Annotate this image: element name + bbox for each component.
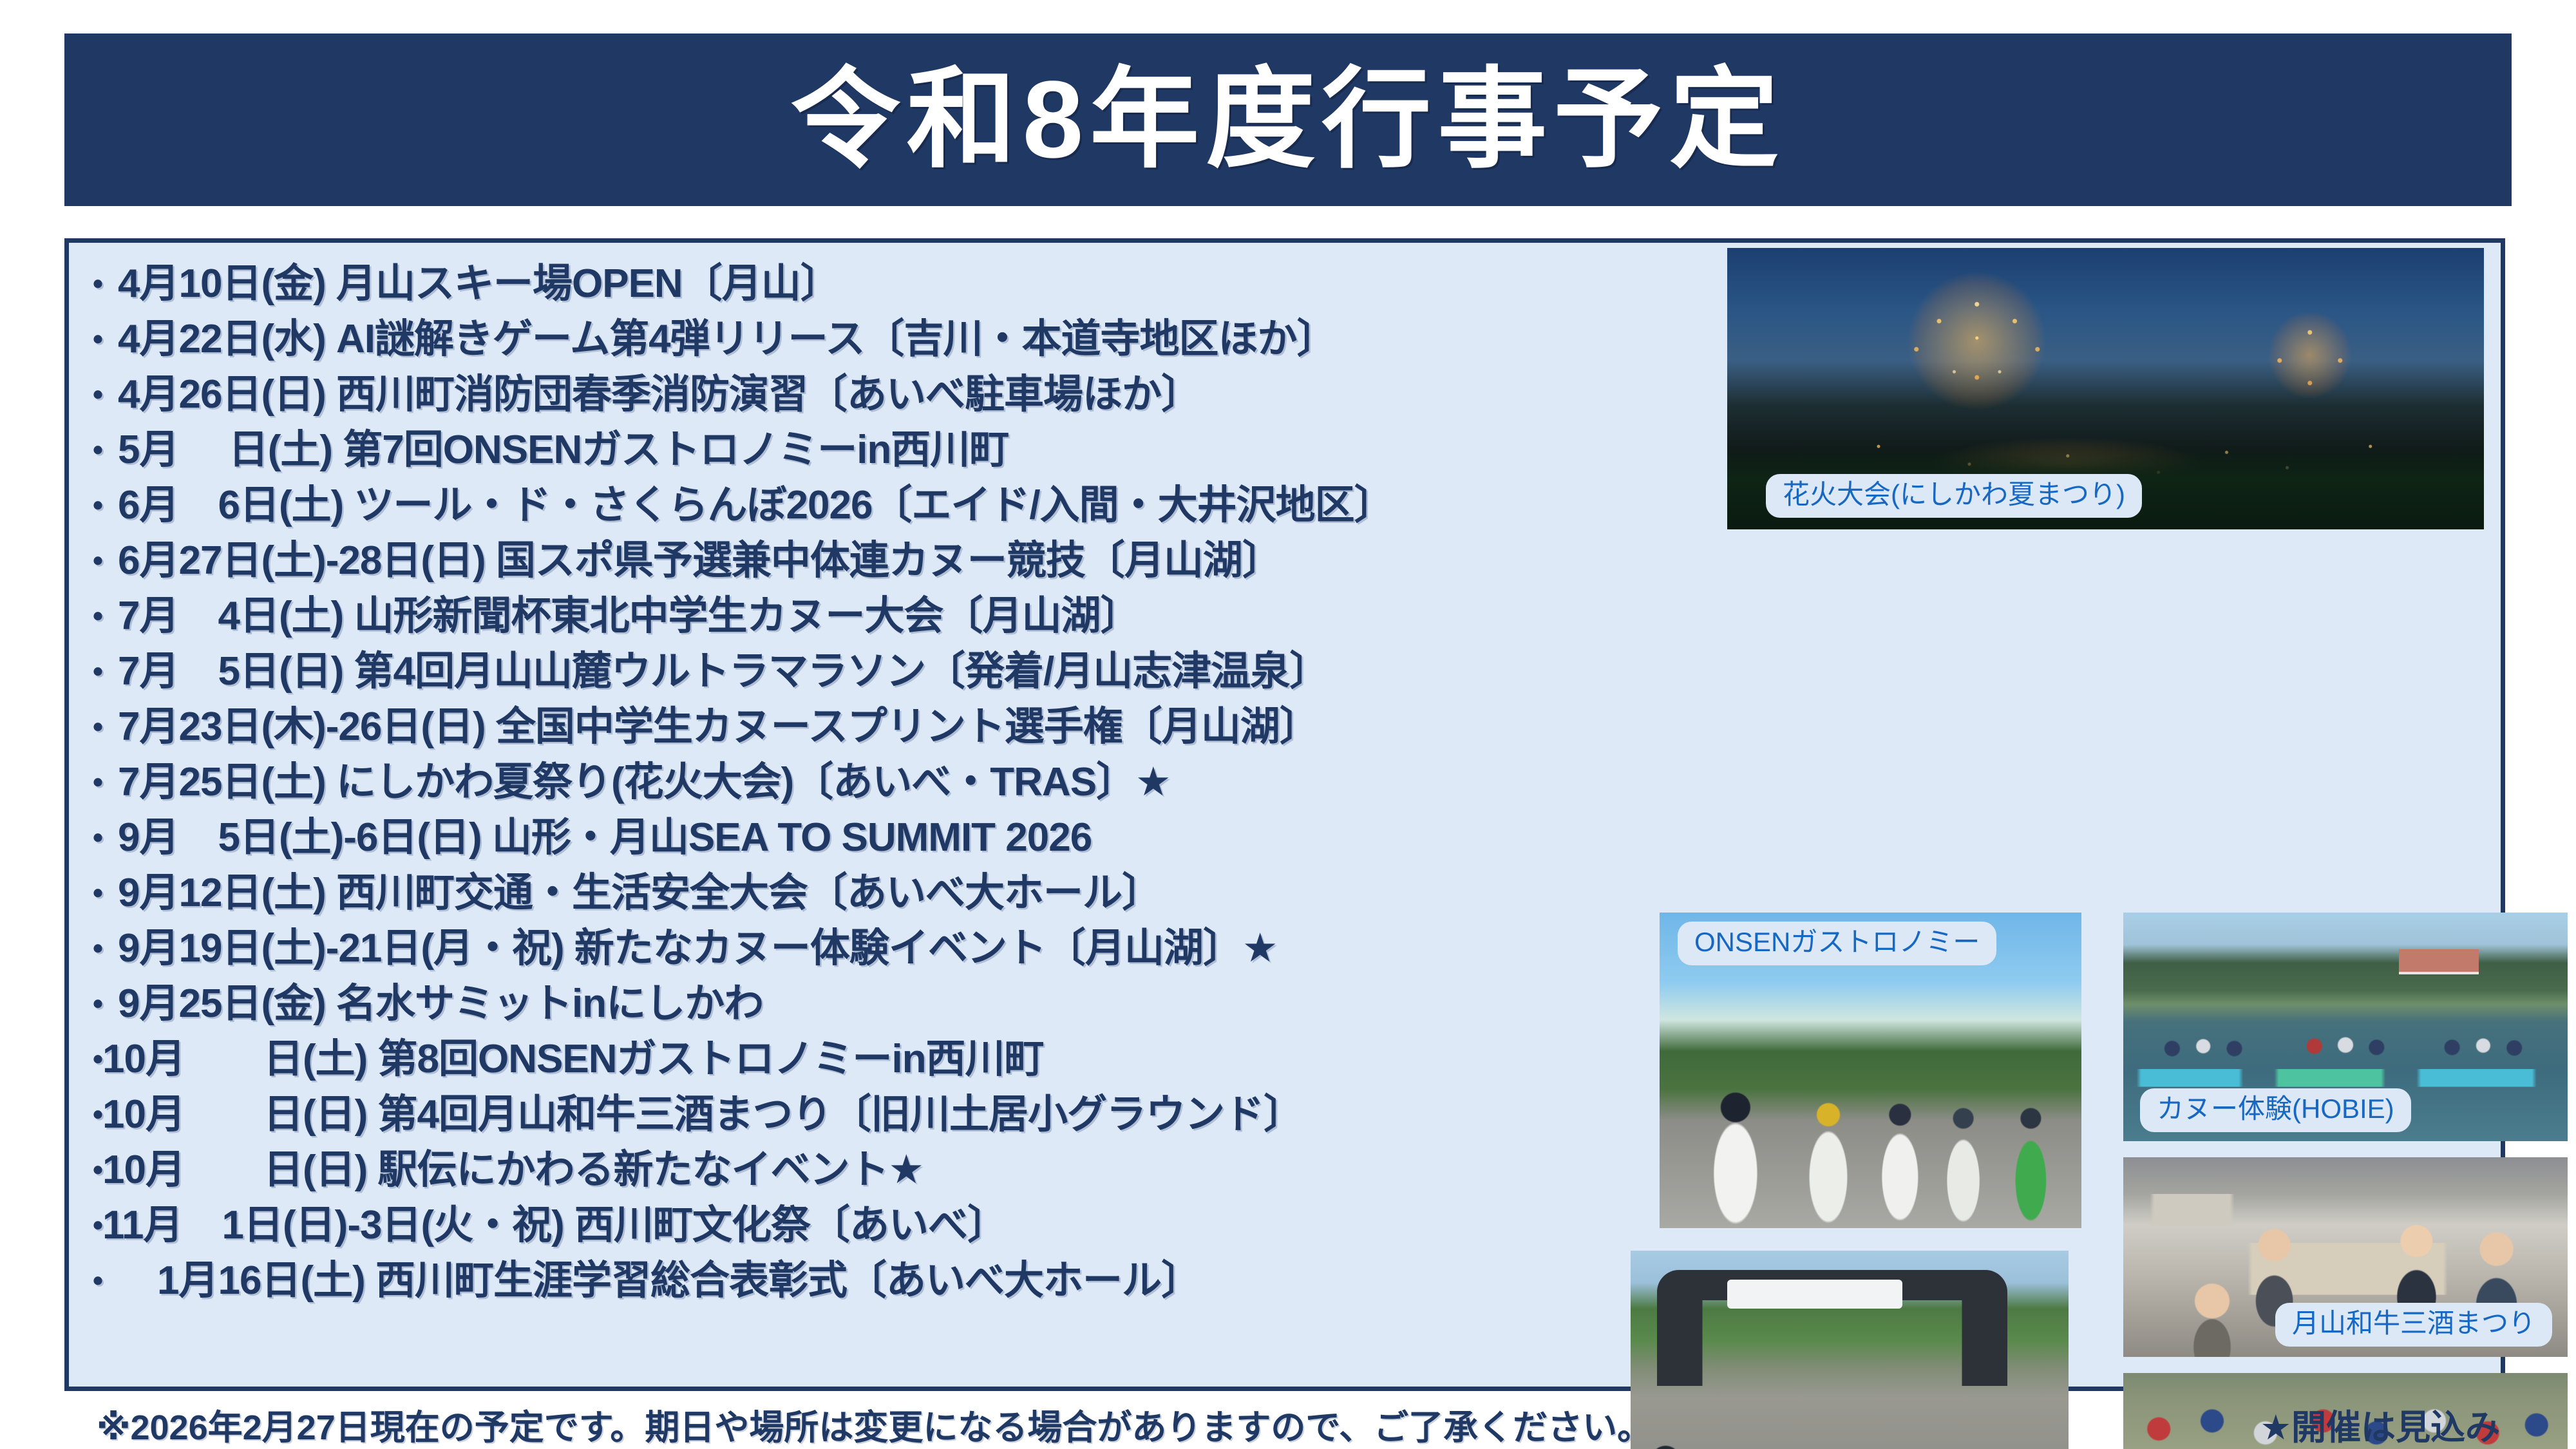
event-date: 4月22日(水) — [118, 306, 326, 364]
event-date: 9月12日(土) — [118, 860, 326, 918]
event-row: ・10月 日(日) 第4回月山和牛三酒まつり〔旧川土居小グラウンド〕 — [80, 1081, 1555, 1137]
event-spacer — [564, 925, 574, 971]
photo-ultra-marathon: ウルトラマラソン — [1631, 1251, 2069, 1449]
event-title: 国スポ県予選兼中体連カヌー競技〔月山湖〕 — [496, 527, 1282, 585]
bullet-icon: ・ — [80, 478, 118, 529]
bullet-icon: ・ — [80, 1198, 102, 1249]
runner-crowd — [1631, 1386, 2069, 1449]
bullet-icon: ・ — [80, 810, 118, 861]
event-row: ・6月27日(土)-28日(日) 国スポ県予選兼中体連カヌー競技〔月山湖〕 — [80, 527, 1555, 583]
bullet-icon: ・ — [80, 644, 118, 695]
slide-root: 令和8年度行事予定 ・4月10日(金) 月山スキー場OPEN〔月山〕・4月22日… — [0, 0, 2576, 1449]
event-title: 西川町生涯学習総合表彰式〔あいべ大ホール〕 — [375, 1247, 1200, 1305]
event-row: ・9月19日(土)-21日(月・祝) 新たなカヌー体験イベント〔月山湖〕★ — [80, 915, 1555, 971]
event-date: 6月27日(土)-28日(日) — [118, 527, 486, 585]
event-title: 西川町文化祭〔あいべ〕 — [574, 1192, 1007, 1250]
photo-canoe: カヌー体験(HOBIE) — [2123, 913, 2568, 1141]
event-title: 第8回ONSENガストロノミーin西川町 — [378, 1026, 1044, 1084]
event-row: ・11月 1日(日)-3日(火・祝) 西川町文化祭〔あいべ〕 — [80, 1192, 1555, 1247]
event-date: 7月25日(土) — [118, 749, 326, 807]
bullet-icon: ・ — [80, 256, 118, 307]
event-title: 名水サミットinにしかわ — [336, 971, 763, 1028]
event-title: 山形新聞杯東北中学生カヌー大会〔月山湖〕 — [354, 583, 1140, 641]
footer-legend: ★開催は見込み — [2260, 1399, 2500, 1449]
photo-wagyu-festival: 月山和牛三酒まつり — [2123, 1157, 2568, 1357]
bullet-icon: ・ — [80, 1087, 102, 1138]
caption-wagyu: 月山和牛三酒まつり — [2275, 1303, 2552, 1347]
event-row: ・9月25日(金) 名水サミットinにしかわ — [80, 971, 1555, 1026]
lakeside-building — [2399, 949, 2479, 974]
event-date: 7月 4日(土) — [118, 583, 343, 641]
event-row: ・7月23日(木)-26日(日) 全国中学生カヌースプリント選手権〔月山湖〕 — [80, 694, 1555, 749]
event-spacer — [326, 870, 336, 916]
event-list: ・4月10日(金) 月山スキー場OPEN〔月山〕・4月22日(水) AI謎解きゲ… — [80, 251, 1555, 1303]
event-date: 9月19日(土)-21日(月・祝) — [118, 915, 564, 973]
caption-onsen: ONSENガストロノミー — [1678, 922, 1996, 965]
event-date: 1月16日(土) — [118, 1247, 365, 1305]
event-row: ・4月26日(日) 西川町消防団春季消防演習〔あいべ駐車場ほか〕 — [80, 361, 1555, 417]
event-title: 新たなカヌー体験イベント〔月山湖〕★ — [574, 915, 1278, 973]
event-date: 6月 6日(土) — [118, 472, 343, 530]
event-row: ・9月 5日(土)-6日(日) 山形・月山SEA TO SUMMIT 2026 — [80, 804, 1555, 860]
event-date: 9月25日(金) — [118, 971, 326, 1028]
event-row: ・4月10日(金) 月山スキー場OPEN〔月山〕 — [80, 251, 1555, 306]
event-spacer — [326, 981, 336, 1027]
event-title: 駅伝にかわる新たなイベント★ — [378, 1137, 924, 1195]
title-bar: 令和8年度行事予定 — [64, 33, 2512, 206]
bullet-icon: ・ — [80, 866, 118, 916]
event-title: 山形・月山SEA TO SUMMIT 2026 — [492, 804, 1092, 862]
bullet-icon: ・ — [80, 422, 118, 473]
event-title: 第4回月山山麓ウルトラマラソン〔発着/月山志津温泉〕 — [354, 638, 1329, 696]
event-date: 10月 日(日) — [102, 1137, 367, 1195]
page-title: 令和8年度行事予定 — [791, 65, 1786, 175]
bullet-icon: ・ — [80, 755, 118, 806]
event-date: 7月 5日(日) — [118, 638, 343, 696]
bullet-icon: ・ — [80, 533, 118, 584]
event-spacer — [332, 427, 343, 473]
event-title: 月山スキー場OPEN〔月山〕 — [336, 251, 840, 308]
event-spacer — [326, 372, 336, 417]
caption-fireworks: 花火大会(にしかわ夏まつり) — [1766, 474, 2142, 518]
event-row: ・5月 日(土) 第7回ONSENガストロノミーin西川町 — [80, 417, 1555, 472]
event-date: 9月 5日(土)-6日(日) — [118, 804, 482, 862]
event-title: 西川町交通・生活安全大会〔あいべ大ホール〕 — [336, 860, 1161, 918]
event-row: ・6月 6日(土) ツール・ド・さくらんぼ2026〔エイド/入間・大井沢地区〕 — [80, 472, 1555, 527]
event-spacer — [343, 482, 354, 528]
event-row: ・ 1月16日(土) 西川町生涯学習総合表彰式〔あいべ大ホール〕 — [80, 1247, 1555, 1303]
event-spacer — [365, 1258, 375, 1303]
bullet-icon: ・ — [80, 1253, 118, 1304]
event-date: 7月23日(木)-26日(日) — [118, 694, 486, 752]
event-date: 4月26日(日) — [118, 361, 326, 419]
event-spacer — [343, 649, 354, 694]
event-row: ・10月 日(日) 駅伝にかわる新たなイベント★ — [80, 1137, 1555, 1192]
bullet-icon: ・ — [80, 589, 118, 639]
event-spacer — [367, 1147, 377, 1193]
event-spacer — [482, 815, 492, 860]
event-row: ・7月 4日(土) 山形新聞杯東北中学生カヌー大会〔月山湖〕 — [80, 583, 1555, 638]
event-spacer — [486, 704, 496, 750]
bullet-icon: ・ — [80, 699, 118, 750]
event-row: ・4月22日(水) AI謎解きゲーム第4弾リリース〔吉川・本道寺地区ほか〕 — [80, 306, 1555, 361]
photo-fireworks: 花火大会(にしかわ夏まつり) — [1727, 248, 2484, 529]
caption-canoe: カヌー体験(HOBIE) — [2140, 1088, 2411, 1132]
event-title: AI謎解きゲーム第4弾リリース〔吉川・本道寺地区ほか〕 — [336, 306, 1336, 364]
bullet-icon: ・ — [80, 1032, 102, 1083]
content-panel: ・4月10日(金) 月山スキー場OPEN〔月山〕・4月22日(水) AI謎解きゲ… — [64, 238, 2505, 1391]
event-date: 10月 日(土) — [102, 1026, 367, 1084]
event-spacer — [326, 316, 336, 362]
event-spacer — [486, 538, 496, 583]
event-title: 第4回月山和牛三酒まつり〔旧川土居小グラウンド〕 — [378, 1081, 1303, 1139]
event-title: 第7回ONSENガストロノミーin西川町 — [343, 417, 1009, 475]
event-spacer — [326, 759, 336, 805]
event-spacer — [343, 593, 354, 639]
photo-onsen-gastronomy: ONSENガストロノミー — [1660, 913, 2081, 1228]
event-spacer — [367, 1092, 377, 1137]
event-row: ・10月 日(土) 第8回ONSENガストロノミーin西川町 — [80, 1026, 1555, 1081]
event-row: ・7月25日(土) にしかわ夏祭り(花火大会)〔あいべ・TRAS〕★ — [80, 749, 1555, 804]
event-spacer — [326, 261, 336, 307]
event-row: ・7月 5日(日) 第4回月山山麓ウルトラマラソン〔発着/月山志津温泉〕 — [80, 638, 1555, 694]
bullet-icon: ・ — [80, 367, 118, 418]
event-title: 西川町消防団春季消防演習〔あいべ駐車場ほか〕 — [336, 361, 1200, 419]
event-title: 全国中学生カヌースプリント選手権〔月山湖〕 — [496, 694, 1319, 752]
event-date: 11月 1日(日)-3日(火・祝) — [102, 1192, 564, 1250]
bullet-icon: ・ — [80, 976, 118, 1027]
canoe-riders — [2123, 1013, 2568, 1072]
onsen-walkers — [1660, 1045, 2081, 1228]
event-date: 10月 日(日) — [102, 1081, 367, 1139]
bullet-icon: ・ — [80, 312, 118, 363]
event-date: 5月 日(土) — [118, 417, 332, 475]
event-title: ツール・ド・さくらんぼ2026〔エイド/入間・大井沢地区〕 — [354, 472, 1394, 530]
event-title: にしかわ夏祭り(花火大会)〔あいべ・TRAS〕★ — [336, 749, 1171, 807]
event-spacer — [564, 1202, 574, 1248]
bullet-icon: ・ — [80, 1142, 102, 1193]
event-row: ・9月12日(土) 西川町交通・生活安全大会〔あいべ大ホール〕 — [80, 860, 1555, 915]
event-date: 4月10日(金) — [118, 251, 326, 308]
start-gate-sign — [1727, 1280, 1902, 1309]
event-spacer — [367, 1036, 377, 1082]
bullet-icon: ・ — [80, 921, 118, 972]
footer-disclaimer: ※2026年2月27日現在の予定です。期日や場所は変更になる場合がありますので、… — [97, 1399, 1652, 1449]
